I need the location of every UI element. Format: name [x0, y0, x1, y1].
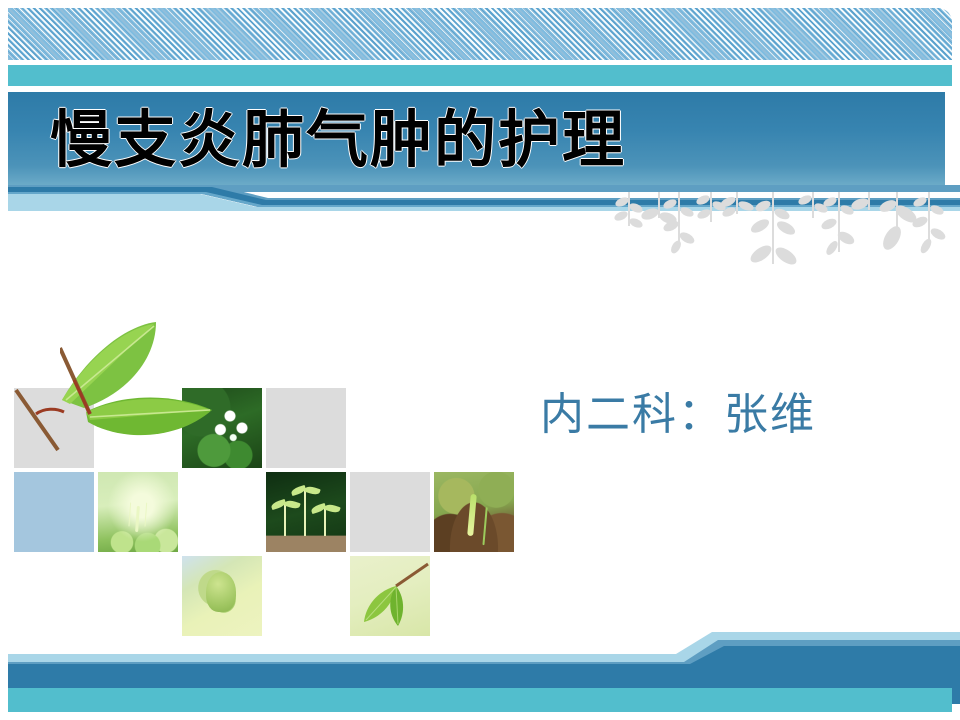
- collage-tile-green-leaves-on-branch: [14, 388, 94, 468]
- branch-shape: [14, 388, 94, 468]
- slide-subtitle: 内二科：张维: [540, 378, 940, 442]
- plant-photo-collage: [14, 388, 534, 640]
- bottom-teal-band: [8, 688, 952, 712]
- photo-green-leaves-on-branch: [14, 388, 94, 468]
- photo-white-flowers-dark-green: [182, 388, 262, 468]
- collage-tile-three-seedlings-in-soil: [266, 472, 346, 552]
- top-teal-band: [8, 65, 952, 86]
- title-ribbon-decoration: [0, 185, 960, 211]
- collage-tile-sprout-in-brown-soil: [434, 472, 514, 552]
- slide-title: 慢支炎肺气肿的护理: [8, 92, 945, 187]
- photo-sprout-in-brown-soil: [434, 472, 514, 552]
- presentation-slide: 慢支炎肺气肿的护理: [0, 0, 960, 720]
- top-striped-band: [8, 8, 952, 60]
- photo-three-seedlings-in-soil: [266, 472, 346, 552]
- collage-tile-gray-placeholder: [350, 472, 430, 552]
- photo-dewy-sprout-in-moss: [98, 472, 178, 552]
- collage-tile-blue-placeholder: [14, 472, 94, 552]
- bottom-decoration: [0, 610, 960, 720]
- collage-tile-gray-placeholder: [266, 388, 346, 468]
- collage-tile-white-flowers-dark-green: [182, 388, 262, 468]
- collage-tile-dewy-sprout-in-moss: [98, 472, 178, 552]
